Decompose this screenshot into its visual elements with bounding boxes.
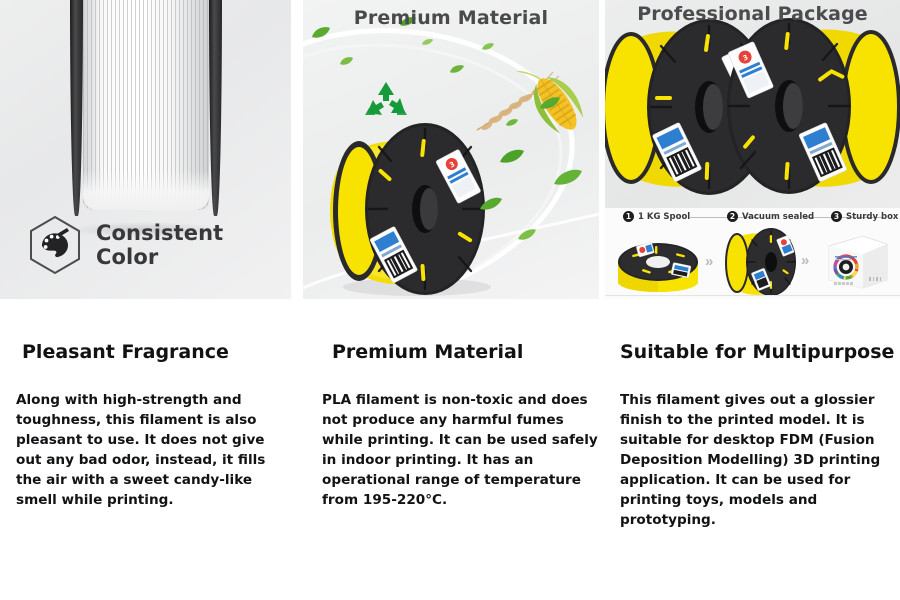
- feature-3-body: This filament gives out a glossier finis…: [620, 390, 892, 530]
- leaf-icon: [539, 96, 561, 110]
- spool-rim-right: [209, 0, 222, 216]
- chevron-right-icon: »: [705, 254, 713, 269]
- feature-column-3: Suitable for Multipurpose This filament …: [620, 299, 892, 530]
- leaf-icon: [339, 56, 354, 66]
- badge-label: Consistent Color: [96, 221, 291, 269]
- white-filament-spool-image: [70, 0, 222, 224]
- leaf-icon: [449, 64, 465, 74]
- leaf-icon: [421, 38, 434, 46]
- feature-column-2: Premium Material PLA filament is non-tox…: [322, 299, 602, 510]
- feature-3-heading: Suitable for Multipurpose: [620, 341, 892, 364]
- leaf-icon: [553, 168, 583, 186]
- step-3-label: Sturdy box: [846, 212, 898, 222]
- leaf-icon: [479, 196, 503, 211]
- feature-2-heading: Premium Material: [332, 341, 602, 364]
- chevron-right-icon: »: [801, 253, 809, 268]
- step-3-number: 3: [831, 211, 842, 222]
- image-panel-row: Consistent Color Premium Material: [0, 0, 900, 299]
- step-3: 3 Sturdy box: [831, 211, 898, 222]
- palette-hexagon-icon: [28, 215, 82, 275]
- feature-2-body: PLA filament is non-toxic and does not p…: [322, 390, 602, 510]
- feature-1-body: Along with high-strength and toughness, …: [16, 390, 288, 510]
- panel-2-title: Premium Material: [303, 7, 599, 29]
- white-filament-winding: [83, 0, 209, 210]
- yellow-spool-right-image: 3: [709, 12, 900, 202]
- mini-spool-sealed-image: [723, 225, 801, 297]
- panel-3-title: Professional Package: [605, 3, 900, 25]
- product-feature-page: Consistent Color Premium Material: [0, 0, 900, 600]
- panel-consistent-color: Consistent Color: [0, 0, 291, 299]
- step-1: 1 1 KG Spool: [623, 211, 690, 222]
- step-1-number: 1: [623, 211, 634, 222]
- step-1-label: 1 KG Spool: [638, 212, 690, 222]
- feature-text-row: Pleasant Fragrance Along with high-stren…: [0, 299, 900, 600]
- leaf-icon: [505, 118, 519, 127]
- panel-premium-material: Premium Material: [303, 0, 599, 299]
- panel-3-hero: Professional Package: [605, 0, 900, 208]
- strip-divider: [605, 295, 900, 296]
- feature-column-1: Pleasant Fragrance Along with high-stren…: [16, 299, 288, 510]
- spool-rim-left: [70, 0, 83, 216]
- product-box-image: [823, 230, 891, 292]
- step-2-number: 2: [727, 211, 738, 222]
- recycle-icon: [363, 80, 409, 122]
- feature-1-heading: Pleasant Fragrance: [22, 341, 288, 364]
- panel-professional-package: Professional Package: [605, 0, 900, 299]
- leaf-icon: [481, 42, 495, 51]
- step-2-label: Vacuum sealed: [742, 212, 814, 222]
- leaf-icon: [517, 228, 537, 241]
- leaf-icon: [499, 148, 525, 164]
- step-2: 2 Vacuum sealed: [727, 211, 814, 222]
- consistent-color-badge: Consistent Color: [28, 215, 291, 275]
- packaging-steps-strip: 1 1 KG Spool 2 Vacuum sealed 3 Sturdy bo…: [605, 208, 900, 299]
- mini-spool-flat-image: [612, 228, 704, 294]
